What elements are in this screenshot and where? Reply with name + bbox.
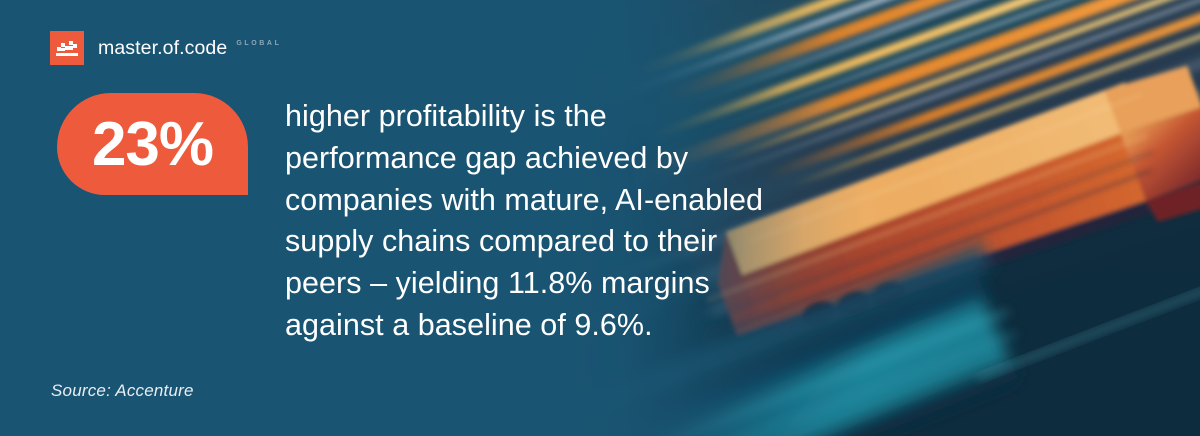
headline-line: against a baseline of 9.6%.: [285, 305, 865, 347]
stat-badge-value: 23%: [92, 114, 213, 176]
headline-line: performance gap achieved by: [285, 138, 865, 180]
brand-logo[interactable]: master.of.code GLOBAL: [50, 28, 281, 68]
headline-text: higher profitability is the performance …: [285, 96, 865, 347]
headline-line: peers – yielding 11.8% margins: [285, 263, 865, 305]
headline-line: higher profitability is the: [285, 96, 865, 138]
stat-badge: 23%: [57, 93, 248, 195]
headline-line: supply chains compared to their: [285, 221, 865, 263]
logo-wordmark: master.of.code: [98, 37, 227, 60]
headline-line: companies with mature, AI-enabled: [285, 180, 865, 222]
logo-tagline: GLOBAL: [236, 40, 281, 47]
pixel-blocks-icon: [50, 31, 84, 65]
infographic-banner: master.of.code GLOBAL 23% higher profita…: [0, 0, 1200, 436]
source-attribution: Source: Accenture: [51, 381, 194, 401]
